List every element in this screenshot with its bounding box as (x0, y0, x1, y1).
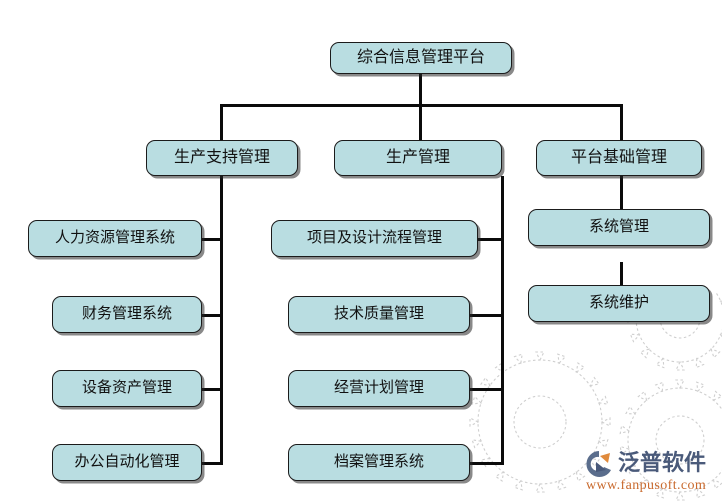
node-leaf-business-plan-label: 经营计划管理 (334, 381, 424, 396)
connector-drop-branch-2 (419, 104, 422, 140)
connector-right-2 (620, 262, 623, 285)
node-leaf-tech-quality-label: 技术质量管理 (334, 307, 424, 322)
connector-stub-left-3 (201, 388, 222, 391)
node-leaf-equipment-assets-label: 设备资产管理 (82, 381, 172, 396)
node-leaf-archive-system[interactable]: 档案管理系统 (288, 444, 470, 481)
logo-row: 泛普软件 (584, 449, 720, 479)
connector-stub-middle-1 (477, 238, 503, 241)
node-leaf-system-management[interactable]: 系统管理 (528, 209, 710, 246)
connector-spine-left (220, 176, 223, 465)
connector-drop-branch-3 (620, 104, 623, 140)
logo-brand-text: 泛普软件 (618, 450, 706, 478)
node-branch-platform-base[interactable]: 平台基础管理 (536, 140, 702, 176)
node-branch-platform-base-label: 平台基础管理 (571, 150, 667, 166)
node-leaf-office-automation[interactable]: 办公自动化管理 (52, 444, 202, 481)
node-leaf-system-management-label: 系统管理 (589, 220, 649, 235)
connector-stub-middle-2 (469, 314, 503, 317)
node-leaf-project-design-flow[interactable]: 项目及设计流程管理 (271, 220, 478, 257)
node-leaf-tech-quality[interactable]: 技术质量管理 (288, 296, 470, 333)
node-leaf-archive-system-label: 档案管理系统 (334, 455, 424, 470)
fanpu-logo: 泛普软件 www.fanpusoft.com (584, 449, 720, 497)
node-leaf-hr-system-label: 人力资源管理系统 (55, 231, 175, 246)
connector-drop-branch-1 (220, 104, 223, 140)
node-branch-production-label: 生产管理 (386, 150, 450, 166)
node-root-label: 综合信息管理平台 (357, 50, 485, 66)
node-leaf-finance-system[interactable]: 财务管理系统 (52, 296, 202, 333)
node-leaf-system-maintenance[interactable]: 系统维护 (528, 285, 710, 322)
node-leaf-equipment-assets[interactable]: 设备资产管理 (52, 370, 202, 407)
node-leaf-project-design-flow-label: 项目及设计流程管理 (307, 231, 442, 246)
node-leaf-business-plan[interactable]: 经营计划管理 (288, 370, 470, 407)
connector-stub-middle-4 (469, 462, 503, 465)
node-branch-production-support[interactable]: 生产支持管理 (146, 140, 298, 176)
fanpu-logo-icon (584, 450, 614, 478)
node-leaf-office-automation-label: 办公自动化管理 (74, 455, 179, 470)
node-leaf-hr-system[interactable]: 人力资源管理系统 (28, 220, 202, 257)
org-chart-diagram: 综合信息管理平台 生产支持管理 生产管理 平台基础管理 人力资源管理系统 财务管… (0, 0, 722, 502)
connector-right-1 (620, 176, 623, 209)
connector-stub-left-4 (201, 462, 222, 465)
connector-stub-left-2 (201, 314, 222, 317)
connector-spine-middle (501, 176, 504, 465)
logo-url-text: www.fanpusoft.com (586, 478, 720, 494)
node-leaf-finance-system-label: 财务管理系统 (82, 307, 172, 322)
connector-stub-left-1 (201, 238, 222, 241)
node-branch-production[interactable]: 生产管理 (334, 140, 502, 176)
connector-stub-middle-3 (469, 388, 503, 391)
node-leaf-system-maintenance-label: 系统维护 (589, 296, 649, 311)
node-root[interactable]: 综合信息管理平台 (330, 42, 512, 74)
connector-root-stem (419, 74, 422, 106)
node-branch-production-support-label: 生产支持管理 (174, 150, 270, 166)
